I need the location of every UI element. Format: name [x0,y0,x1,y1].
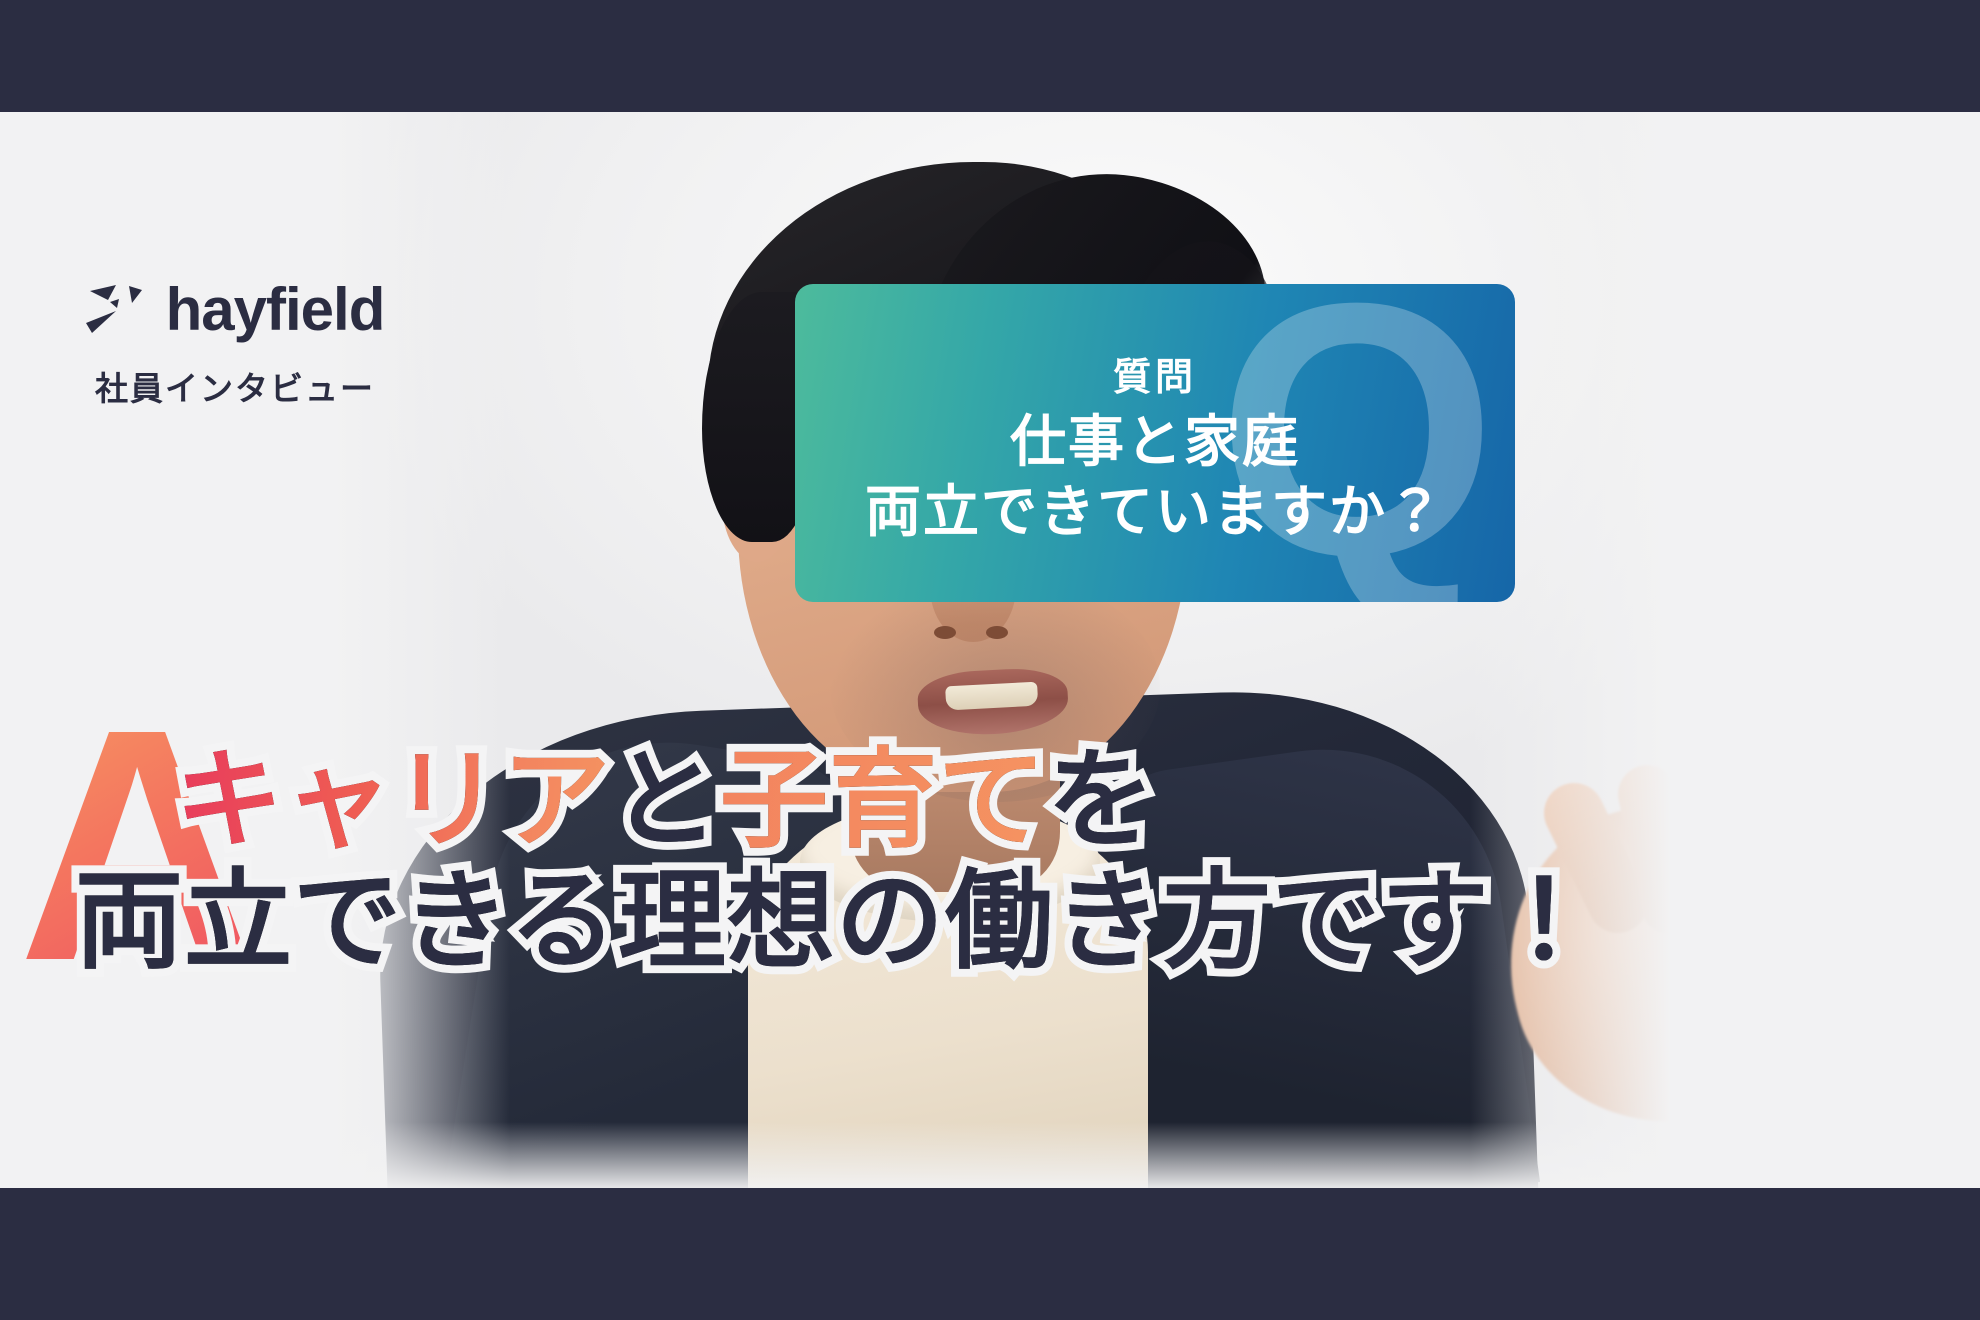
brand-lockup: hayfield 社員インタビュー [60,280,410,410]
answer-seg-line2: 両立できる理想の働き方です！ [75,861,1599,982]
question-card: Q 質問 仕事と家庭 両立できていますか？ [795,284,1515,602]
answer-seg-kosodate: 子育て [720,740,1047,861]
interview-banner: hayfield 社員インタビュー Q 質問 仕事と家庭 両立できていますか？ … [0,0,1980,1320]
question-line-2: 両立できていますか？ [865,477,1445,546]
teeth [945,682,1038,711]
brand-subtitle: 社員インタビュー [60,362,410,410]
answer-seg-wo: を [1047,740,1156,861]
answer-seg-career: キャリア [175,740,611,861]
photo-fade-right [1470,112,1670,1188]
photo-fade-left [330,112,510,1188]
question-label: 質問 [1113,346,1197,401]
letterbox-bar-top [0,0,1980,112]
answer-seg-to: と [611,740,720,861]
brand-row: hayfield [60,280,410,340]
hayfield-arrow-mark-icon [86,283,152,337]
answer-line-1: キャリアと子育てを [175,740,1975,861]
brand-name: hayfield [166,280,385,340]
photo-fade-bottom [330,1122,1670,1188]
nostril-right [986,626,1008,639]
answer-headline: キャリアと子育てを 両立できる理想の働き方です！ [175,740,1975,982]
nostril-left [934,626,956,639]
interviewee-photo [330,112,1670,1188]
question-body: 質問 仕事と家庭 両立できていますか？ [795,284,1515,602]
question-line-1: 仕事と家庭 [1010,407,1300,476]
answer-line-2: 両立できる理想の働き方です！ [75,861,1975,982]
banner-canvas: hayfield 社員インタビュー Q 質問 仕事と家庭 両立できていますか？ … [0,112,1980,1188]
letterbox-bar-bottom [0,1188,1980,1320]
